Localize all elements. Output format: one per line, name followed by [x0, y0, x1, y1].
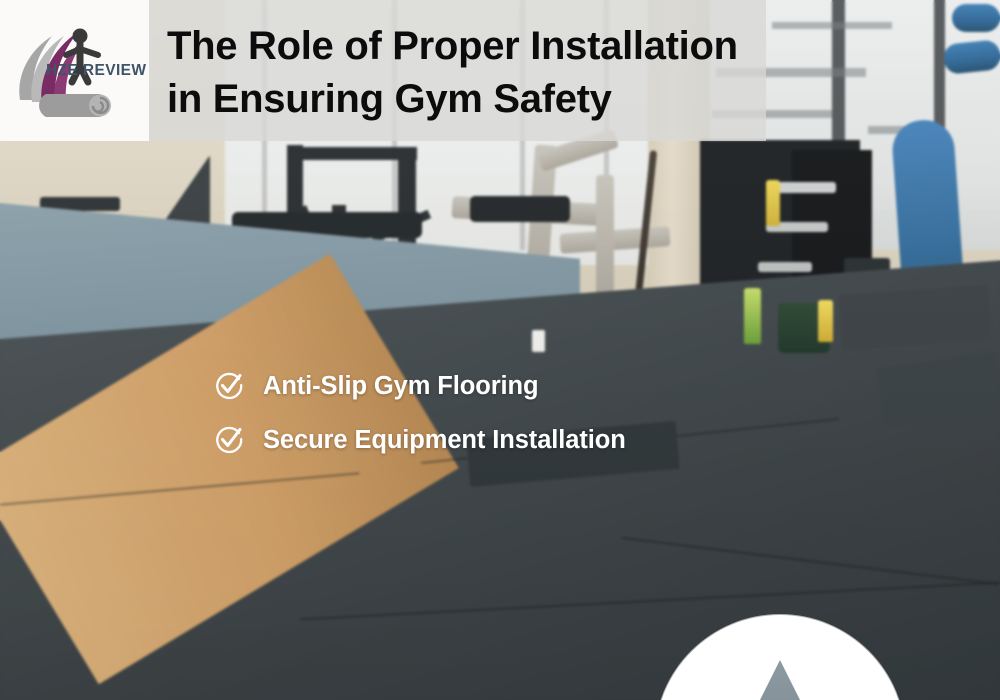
rack-rail	[772, 22, 892, 29]
blue-roller-pad	[943, 39, 1000, 75]
poster-canvas: HZE REVIEW The Role of Proper Installati…	[0, 0, 1000, 700]
feature-list: Anti-Slip Gym Flooring Secure Equipment …	[213, 370, 626, 478]
machine-pad	[470, 196, 570, 222]
list-item-label: Anti-Slip Gym Flooring	[263, 372, 538, 401]
squat-rack-crossbar	[287, 147, 417, 160]
blue-roller-pad	[952, 4, 1000, 32]
list-item: Secure Equipment Installation	[213, 424, 626, 456]
yellow-bottle	[766, 180, 780, 226]
list-item-label: Secure Equipment Installation	[263, 426, 626, 455]
stacked-mat	[838, 285, 991, 350]
yellow-bottle	[818, 300, 833, 342]
headline-line-2: in Ensuring Gym Safety	[167, 73, 767, 126]
white-bottle	[532, 330, 545, 352]
headline-line-1: The Role of Proper Installation	[167, 24, 738, 68]
machine-post	[596, 175, 614, 305]
page-title: The Role of Proper Installation in Ensur…	[167, 20, 767, 126]
list-item: Anti-Slip Gym Flooring	[213, 370, 626, 402]
dumbbell-handle	[758, 262, 812, 272]
circle-check-icon	[213, 424, 245, 456]
dumbbell-handle	[778, 182, 836, 193]
logo-panel[interactable]: HZE REVIEW	[0, 0, 149, 141]
logo-wordmark: HZE REVIEW	[46, 62, 146, 80]
circle-check-icon	[213, 370, 245, 402]
green-bottle	[744, 288, 761, 344]
